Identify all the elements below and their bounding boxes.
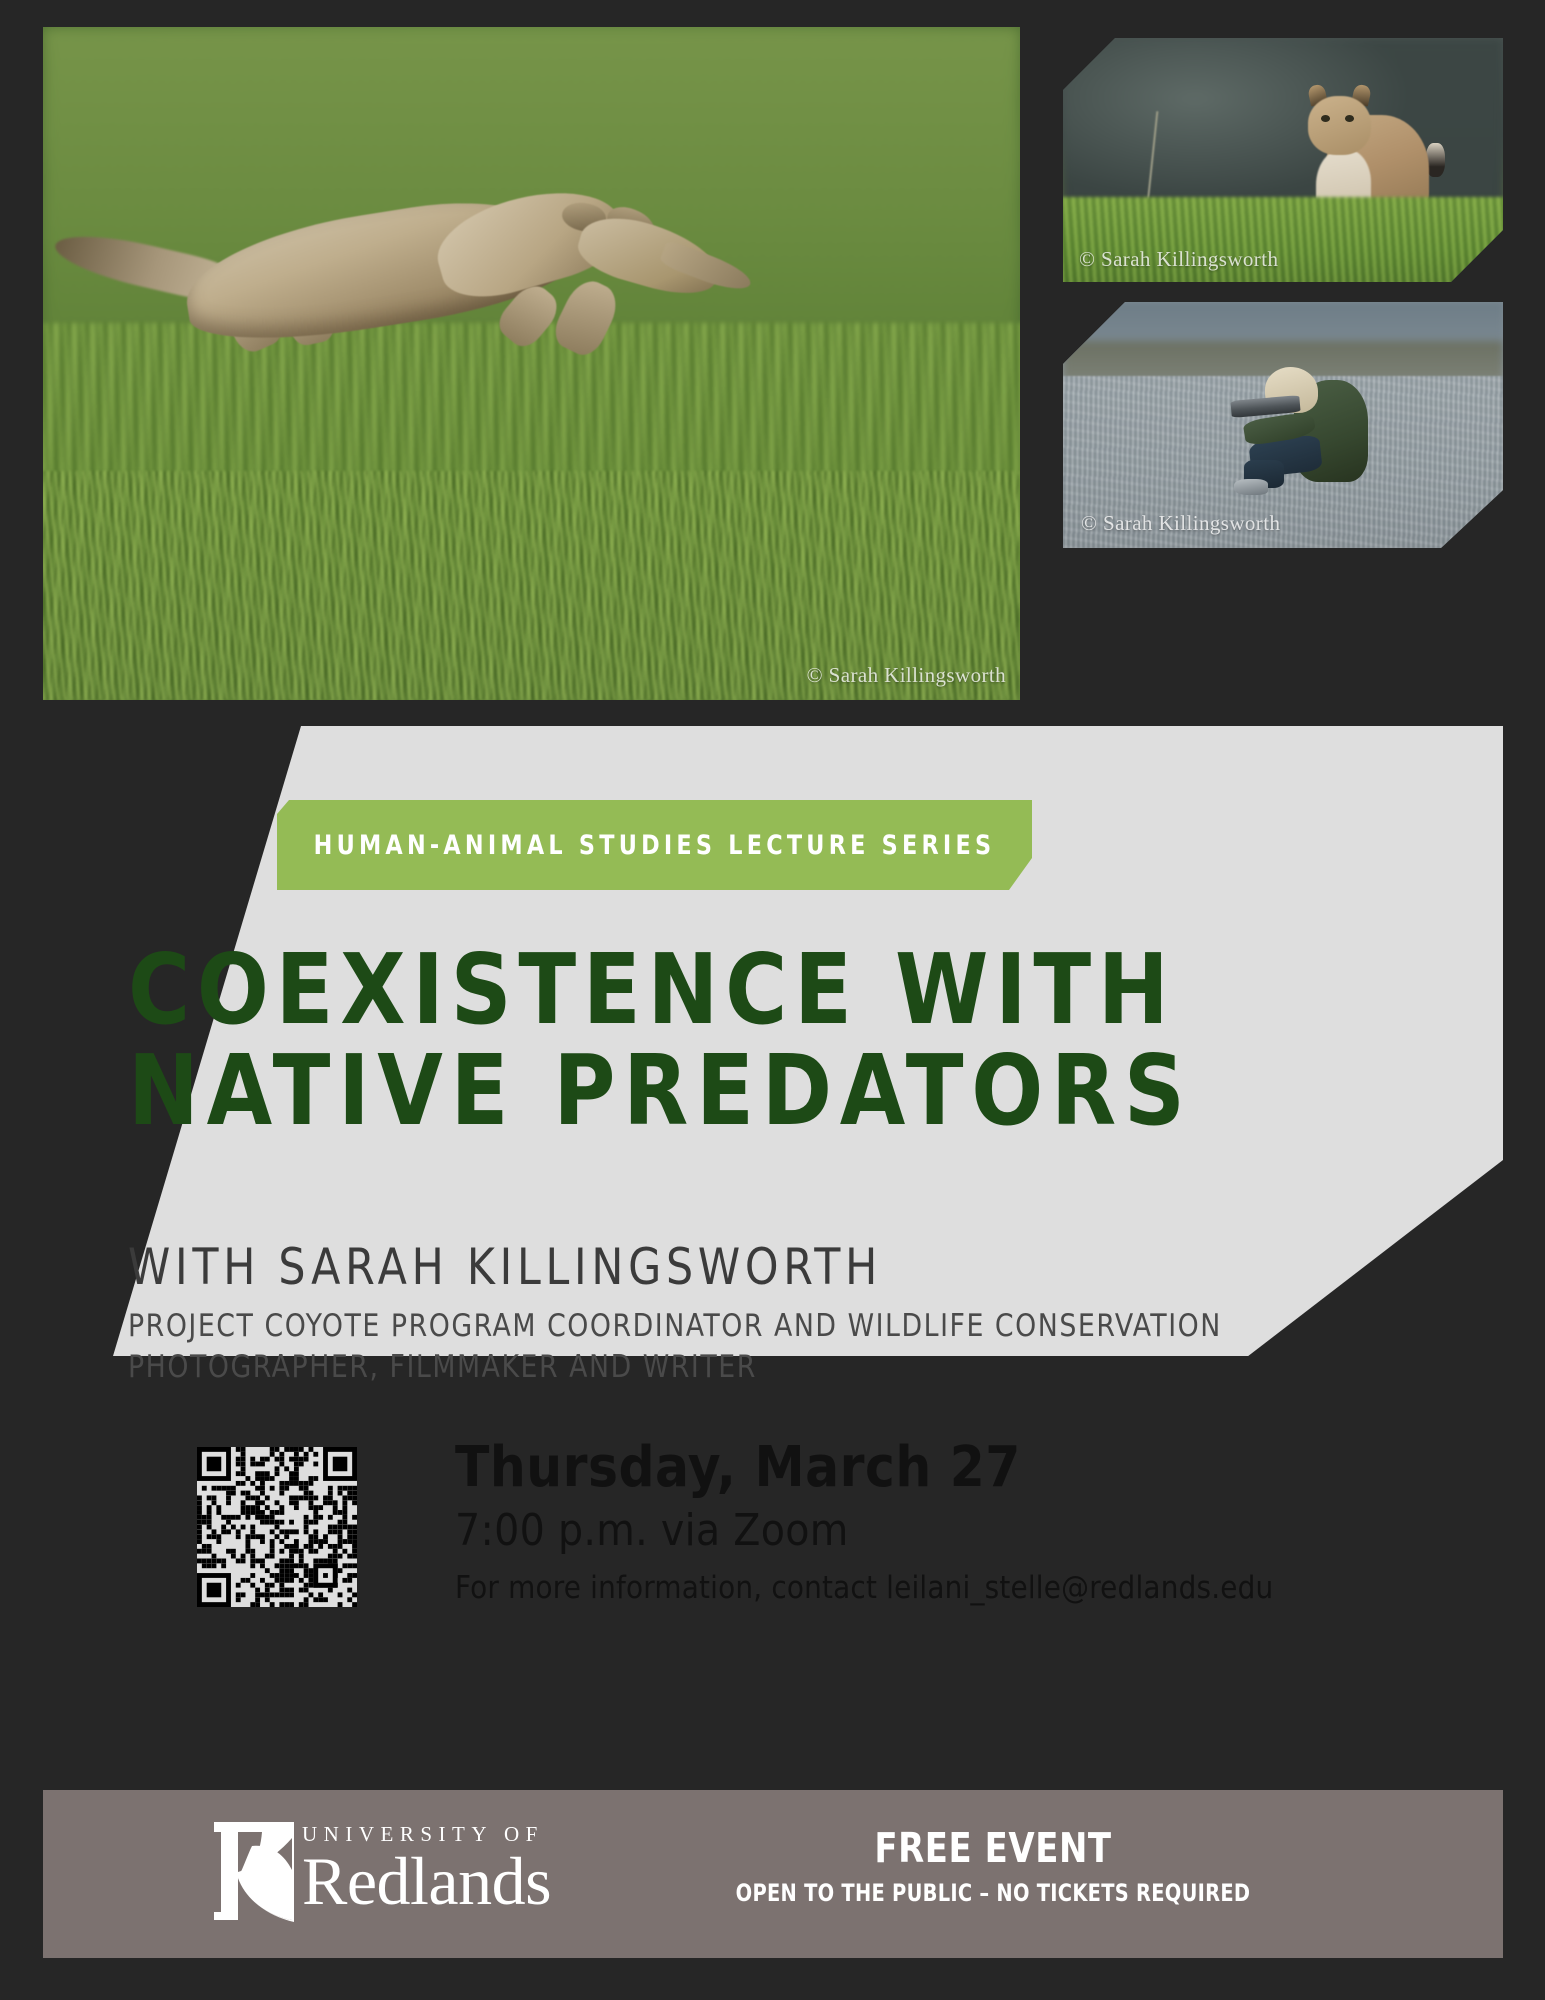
qr-code[interactable] [197,1447,357,1607]
photo-photographer: © Sarah Killingsworth [1063,302,1503,548]
logo-university-of: UNIVERSITY OF [302,1824,551,1845]
qr-code-image[interactable] [197,1447,357,1607]
free-event-block: FREE EVENT OPEN TO THE PUBLIC – NO TICKE… [683,1826,1303,1907]
event-time: 7:00 p.m. via Zoom [455,1507,1215,1555]
photo-band: © Sarah Killingsworth © Sarah Killingswo… [0,0,1545,712]
speaker-role: PROJECT COYOTE PROGRAM COORDINATOR AND W… [128,1306,1194,1388]
coyote-front-right-leg [549,274,625,361]
bobcat-right-eye [1345,115,1354,122]
photo-credit: © Sarah Killingsworth [1081,511,1280,536]
footer-bar: UNIVERSITY OF Redlands FREE EVENT OPEN T… [43,1790,1503,1958]
speaker-name: WITH SARAH KILLINGSWORTH [128,1238,882,1296]
event-details: Thursday, March 27 7:00 p.m. via Zoom Fo… [455,1438,1215,1606]
photographer-figure [1239,361,1371,499]
page-title-line-2: NATIVE PREDATORS [128,1041,1273,1142]
photo-credit: © Sarah Killingsworth [1079,247,1278,272]
photo-bobcat: © Sarah Killingsworth [1063,38,1503,282]
photo-credit: © Sarah Killingsworth [807,663,1006,688]
event-date: Thursday, March 27 [455,1438,1215,1498]
lecture-series-banner-label: HUMAN-ANIMAL STUDIES LECTURE SERIES [314,830,996,861]
contact-info: For more information, contact leilani_st… [455,1570,1215,1606]
bobcat-left-eye [1321,115,1330,122]
bobcat-tail [1426,143,1444,177]
page-title-line-1: COEXISTENCE WITH [128,940,1273,1041]
photo-coyote-leaping: © Sarah Killingsworth [43,27,1020,700]
free-event-title: FREE EVENT [708,1826,1278,1870]
lecture-series-banner: HUMAN-ANIMAL STUDIES LECTURE SERIES [277,800,1032,890]
free-event-subtitle: OPEN TO THE PUBLIC – NO TICKETS REQUIRED [714,1879,1272,1907]
university-logo-text: UNIVERSITY OF Redlands [302,1824,551,1916]
logo-redlands: Redlands [302,1847,551,1916]
page-title: COEXISTENCE WITH NATIVE PREDATORS [128,940,1273,1142]
speaker-role-line-2: PHOTOGRAPHER, FILMMAKER AND WRITER [128,1347,1194,1388]
event-poster: © Sarah Killingsworth © Sarah Killingswo… [0,0,1545,2000]
redlands-r-mark-icon [208,1820,296,1924]
speaker-role-line-1: PROJECT COYOTE PROGRAM COORDINATOR AND W… [128,1306,1194,1347]
university-logo: UNIVERSITY OF Redlands [208,1820,551,1928]
photographer-shoe [1234,479,1268,494]
coyote-figure [141,168,688,370]
bobcat-head [1308,96,1371,155]
